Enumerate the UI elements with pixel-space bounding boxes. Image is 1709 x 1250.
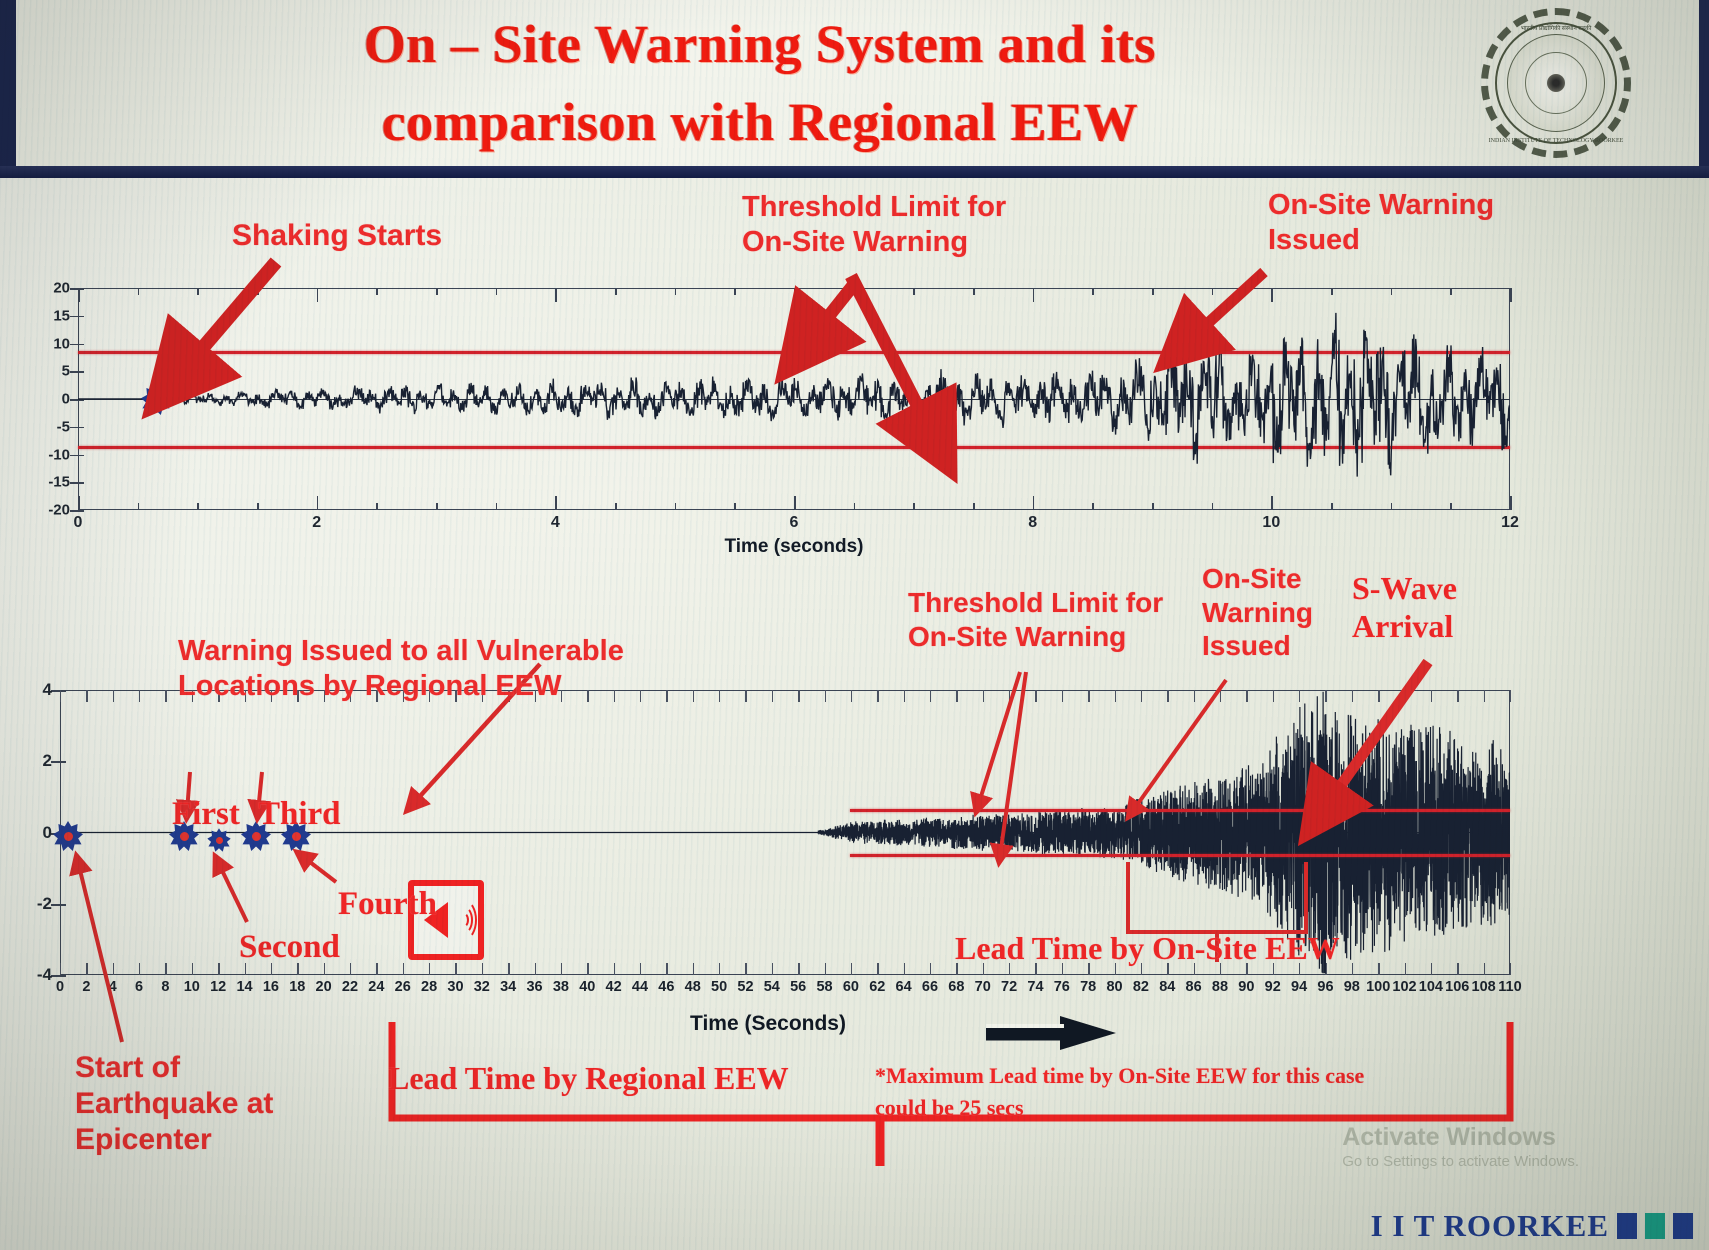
annotation-onsite-warning-issued-bottom-line1: On-Site	[1202, 562, 1313, 596]
chart2-x-tick-label: 102	[1392, 979, 1416, 995]
annotation-footnote: *Maximum Lead time by On-Site EEW for th…	[875, 1060, 1364, 1124]
chart2-x-tick-label: 30	[447, 979, 463, 995]
emblem-core	[1547, 74, 1565, 92]
brand-square-blue-2	[1673, 1213, 1693, 1239]
annotation-start-of-earthquake-line3: Epicenter	[75, 1122, 273, 1158]
chart2-x-tick-label: 70	[975, 979, 991, 995]
annotation-start-of-earthquake-line2: Earthquake at	[75, 1086, 273, 1122]
chart2-x-tick-label: 104	[1419, 979, 1443, 995]
chart2-x-tick-label: 90	[1238, 979, 1254, 995]
chart2-x-tick-label: 88	[1212, 979, 1228, 995]
chart2-x-tick-label: 8	[161, 979, 169, 995]
chart2-x-tick-label: 46	[658, 979, 674, 995]
chart2-x-tick-label: 110	[1498, 979, 1521, 995]
chart2-x-tick-label: 72	[1001, 979, 1017, 995]
chart2-threshold-line-lower	[850, 854, 1510, 857]
page-title: On – Site Warning System and its compari…	[180, 6, 1340, 162]
chart2-y-tick-label: 4	[22, 680, 52, 700]
annotation-onsite-warning-issued-top-line1: On-Site Warning	[1268, 188, 1494, 223]
chart1-y-tick-label: -15	[26, 474, 70, 491]
chart2-x-tick-label: 98	[1344, 979, 1360, 995]
chart1-x-tick-label: 10	[1262, 514, 1280, 532]
chart1-x-tick	[1510, 288, 1512, 302]
annotation-threshold-limit-top-line1: Threshold Limit for	[742, 190, 1006, 225]
annotation-s-wave-arrival-line1: S-Wave	[1352, 570, 1457, 608]
annotation-lead-time-regional: Lead Time by Regional EEW	[388, 1060, 789, 1098]
annotation-third: Third	[258, 795, 341, 834]
annotation-threshold-limit-top-line2: On-Site Warning	[742, 225, 1006, 260]
chart1-y-tick-label: 5	[26, 363, 70, 380]
chart2-x-tick-label: 2	[82, 979, 90, 995]
chart2-x-tick-label: 50	[711, 979, 727, 995]
annotation-first: First	[172, 795, 240, 834]
chart1-x-tick-label: 12	[1501, 514, 1519, 532]
chart2-x-tick-label: 4	[109, 979, 117, 995]
chart2-x-tick-label: 20	[316, 979, 332, 995]
chart2-x-tick-label: 76	[1054, 979, 1070, 995]
chart2-x-tick-label: 16	[263, 979, 279, 995]
chart2-x-tick-label: 24	[368, 979, 384, 995]
chart1-y-tick-label: 10	[26, 335, 70, 352]
chart2-x-tick-label: 108	[1472, 979, 1496, 995]
chart2-marker-start-of-earthquake	[53, 821, 83, 851]
page-title-line2: comparison with Regional EEW	[180, 84, 1340, 162]
annotation-threshold-limit-top: Threshold Limit for On-Site Warning	[742, 190, 1006, 260]
annotation-shaking-starts: Shaking Starts	[232, 218, 442, 254]
annotation-threshold-limit-bottom: Threshold Limit for On-Site Warning	[908, 586, 1163, 653]
chart2-x-tick-label: 74	[1027, 979, 1043, 995]
chart-onsite-accelerogram: 20151050-5-10-15-20 024681012 Time (seco…	[78, 288, 1510, 510]
chart2-x-tick-label: 60	[843, 979, 859, 995]
chart1-waveform-path	[78, 313, 1510, 477]
chart1-y-tick-label: 0	[26, 391, 70, 408]
annotation-s-wave-arrival-line2: Arrival	[1352, 608, 1457, 646]
emblem-bottom-text: INDIAN INSTITUTE OF TECHNOLOGY ROORKEE	[1481, 138, 1631, 144]
chart2-x-tick-label: 52	[737, 979, 753, 995]
chart1-x-tick-label: 4	[551, 514, 560, 532]
chart2-y-tick	[51, 975, 66, 977]
header-divider-band	[0, 166, 1709, 178]
chart1-y-tick-label: -10	[26, 446, 70, 463]
watermark-line2: Go to Settings to activate Windows.	[1342, 1153, 1579, 1172]
chart2-x-tick-label: 14	[236, 979, 252, 995]
chart1-y-tick	[70, 510, 84, 512]
annotation-lead-time-onsite: Lead Time by On-Site EEW	[955, 930, 1340, 968]
annotation-onsite-warning-issued-bottom-line3: Issued	[1202, 629, 1313, 663]
chart2-x-tick-label: 94	[1291, 979, 1307, 995]
chart2-x-tick-label: 84	[1159, 979, 1175, 995]
annotation-regional-warning-line2: Locations by Regional EEW	[178, 669, 624, 704]
header-left-edge	[0, 0, 16, 176]
chart2-x-tick-label: 54	[764, 979, 780, 995]
chart2-x-tick-label: 44	[632, 979, 648, 995]
chart2-x-tick-label: 10	[184, 979, 200, 995]
chart2-x-tick-label: 66	[922, 979, 938, 995]
chart2-x-tick-label: 56	[790, 979, 806, 995]
annotation-onsite-warning-issued-top-line2: Issued	[1268, 223, 1494, 258]
annotation-start-of-earthquake-line1: Start of	[75, 1050, 273, 1086]
annotation-s-wave-arrival: S-Wave Arrival	[1352, 570, 1457, 646]
chart2-x-tick-label: 78	[1080, 979, 1096, 995]
iit-roorkee-footer-brand: I I T ROORKEE	[1371, 1208, 1693, 1244]
chart1-shaking-start-marker	[141, 385, 171, 415]
annotation-threshold-limit-bottom-line1: Threshold Limit for	[908, 586, 1163, 620]
chart2-x-tick-label: 62	[869, 979, 885, 995]
slide-header: On – Site Warning System and its compari…	[0, 0, 1709, 176]
annotation-start-of-earthquake: Start of Earthquake at Epicenter	[75, 1050, 273, 1158]
chart2-x-tick-label: 22	[342, 979, 358, 995]
annotation-footnote-line2: could be 25 secs	[875, 1092, 1364, 1124]
chart2-x-axis-title: Time (Seconds)	[690, 1012, 846, 1036]
chart1-x-tick	[1510, 496, 1512, 510]
chart2-x-tick-label: 92	[1265, 979, 1281, 995]
chart2-x-tick-label: 12	[210, 979, 226, 995]
chart1-y-tick-label: -20	[26, 502, 70, 519]
chart2-x-tick	[1510, 963, 1511, 975]
chart2-x-tick-label: 64	[896, 979, 912, 995]
annotation-onsite-warning-issued-bottom-line2: Warning	[1202, 596, 1313, 630]
chart2-y-tick-label: 2	[22, 751, 52, 771]
chart1-y-tick-label: 20	[26, 280, 70, 297]
watermark-line1: Activate Windows	[1342, 1122, 1579, 1153]
chart2-x-tick-label: 82	[1133, 979, 1149, 995]
chart2-x-tick	[1510, 690, 1511, 702]
chart1-x-tick-label: 8	[1028, 514, 1037, 532]
sound-wave-3-icon	[453, 900, 477, 940]
chart1-y-tick-label: -5	[26, 418, 70, 435]
annotation-fourth: Fourth	[338, 885, 437, 924]
chart2-x-tick-label: 32	[474, 979, 490, 995]
chart1-x-axis-title: Time (seconds)	[724, 536, 863, 558]
annotation-regional-warning-line1: Warning Issued to all Vulnerable	[178, 634, 624, 669]
chart2-x-tick-label: 100	[1366, 979, 1390, 995]
annotation-onsite-warning-issued-top: On-Site Warning Issued	[1268, 188, 1494, 258]
header-right-edge	[1699, 0, 1709, 176]
chart1-waveform-trace	[78, 288, 1510, 510]
chart2-x-tick-label: 96	[1317, 979, 1333, 995]
chart2-x-tick-label: 38	[553, 979, 569, 995]
chart2-x-tick-label: 58	[816, 979, 832, 995]
chart2-x-tick-label: 0	[56, 979, 64, 995]
chart2-x-tick-label: 26	[395, 979, 411, 995]
chart1-x-tick-label: 0	[74, 514, 83, 532]
chart1-x-tick-label: 6	[790, 514, 799, 532]
annotation-footnote-line1: *Maximum Lead time by On-Site EEW for th…	[875, 1060, 1364, 1092]
chart2-x-tick-label: 80	[1106, 979, 1122, 995]
chart2-x-tick-label: 6	[135, 979, 143, 995]
chart2-x-tick-label: 86	[1186, 979, 1202, 995]
page-title-line1: On – Site Warning System and its	[180, 6, 1340, 84]
chart2-x-tick-label: 18	[289, 979, 305, 995]
annotation-second: Second	[239, 928, 340, 967]
brand-square-teal	[1645, 1213, 1665, 1239]
emblem-top-text: भारतीय प्रौद्योगिकी संस्थान रुड़की	[1481, 24, 1631, 32]
chart1-x-tick-label: 2	[312, 514, 321, 532]
iit-roorkee-emblem-icon: भारतीय प्रौद्योगिकी संस्थान रुड़की INDIA…	[1481, 8, 1631, 158]
annotation-threshold-limit-bottom-line2: On-Site Warning	[908, 620, 1163, 654]
chart2-x-tick-label: 36	[526, 979, 542, 995]
chart1-y-tick-label: 15	[26, 307, 70, 324]
chart2-x-tick-label: 68	[948, 979, 964, 995]
chart2-threshold-line-upper	[850, 809, 1510, 812]
chart2-x-tick-label: 42	[606, 979, 622, 995]
windows-activation-watermark: Activate Windows Go to Settings to activ…	[1342, 1122, 1579, 1172]
annotation-regional-warning: Warning Issued to all Vulnerable Locatio…	[178, 634, 624, 704]
chart2-x-tick-label: 34	[500, 979, 516, 995]
chart2-x-tick-label: 40	[579, 979, 595, 995]
chart2-y-tick-label: 0	[22, 823, 52, 843]
chart2-x-tick-label: 48	[685, 979, 701, 995]
chart2-x-tick-label: 106	[1445, 979, 1469, 995]
annotation-onsite-warning-issued-bottom: On-Site Warning Issued	[1202, 562, 1313, 663]
chart2-x-tick-label: 28	[421, 979, 437, 995]
chart2-y-tick-label: -2	[22, 894, 52, 914]
chart2-y-tick-label: -4	[22, 965, 52, 985]
brand-square-blue-1	[1617, 1213, 1637, 1239]
brand-text: I I T ROORKEE	[1371, 1208, 1609, 1244]
